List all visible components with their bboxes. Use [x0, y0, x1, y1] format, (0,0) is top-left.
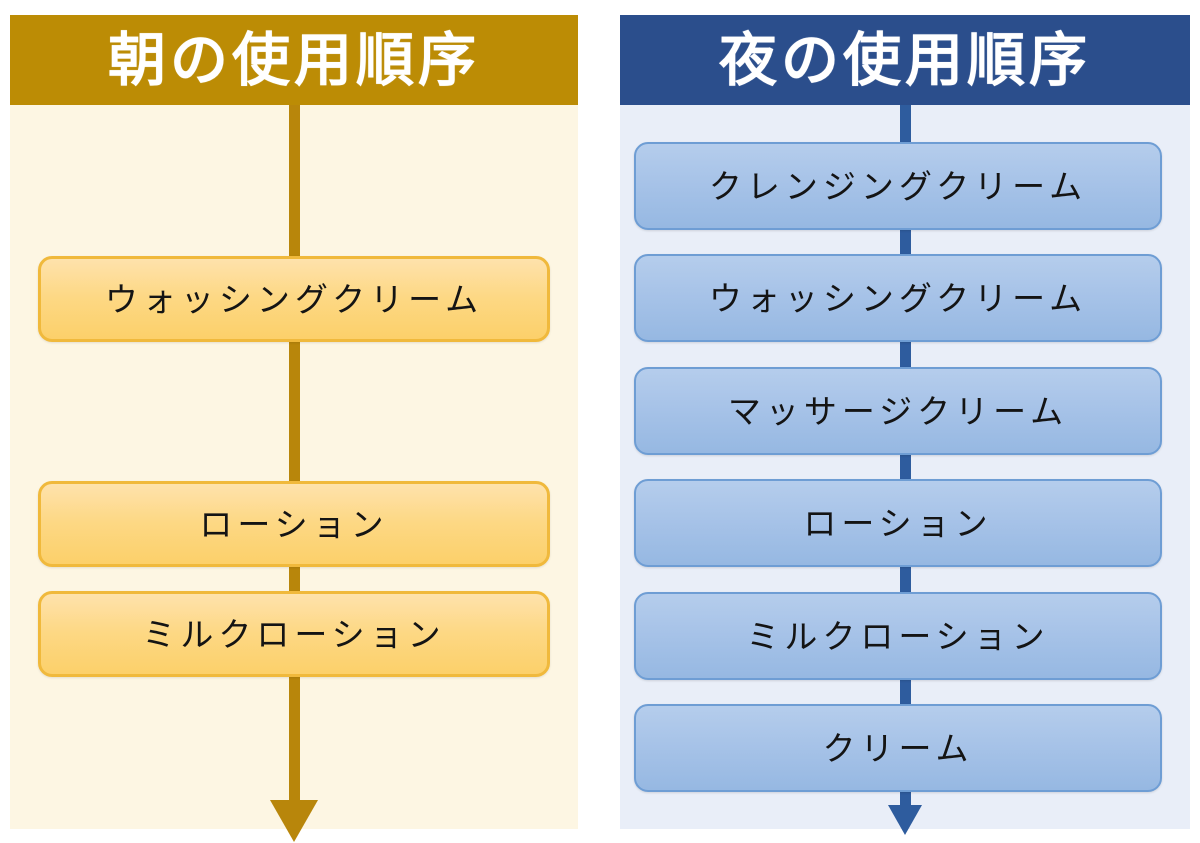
step-box-morning-2[interactable]: ローション: [38, 481, 550, 567]
panel-night-header: 夜の使用順序: [620, 15, 1190, 105]
step-box-night-4[interactable]: ローション: [634, 479, 1162, 567]
step-box-night-5[interactable]: ミルクローション: [634, 592, 1162, 680]
step-label: ローション: [803, 507, 992, 540]
step-label: ミルクローション: [142, 618, 445, 651]
step-label: ウォッシングクリーム: [709, 282, 1087, 315]
down-arrow-icon-night: [888, 805, 922, 835]
step-label: クレンジングクリーム: [709, 170, 1087, 203]
step-box-night-3[interactable]: マッサージクリーム: [634, 367, 1162, 455]
skincare-order-diagram: 朝の使用順序 ウォッシングクリーム ローション ミルクローション 夜の使用順序 …: [0, 0, 1200, 843]
step-label: クリーム: [822, 732, 973, 765]
step-box-night-2[interactable]: ウォッシングクリーム: [634, 254, 1162, 342]
panel-morning-header: 朝の使用順序: [10, 15, 578, 105]
panel-morning: 朝の使用順序 ウォッシングクリーム ローション ミルクローション: [10, 15, 578, 829]
step-box-morning-3[interactable]: ミルクローション: [38, 591, 550, 677]
step-label: マッサージクリーム: [728, 395, 1068, 428]
step-label: ウォッシングクリーム: [105, 283, 483, 316]
step-label: ミルクローション: [746, 620, 1049, 653]
step-box-night-1[interactable]: クレンジングクリーム: [634, 142, 1162, 230]
flow-connector-morning: [289, 103, 300, 803]
step-box-night-6[interactable]: クリーム: [634, 704, 1162, 792]
step-label: ローション: [199, 508, 388, 541]
step-box-morning-1[interactable]: ウォッシングクリーム: [38, 256, 550, 342]
down-arrow-icon-morning: [270, 800, 318, 842]
panel-night: 夜の使用順序 クレンジングクリーム ウォッシングクリーム マッサージクリーム ロ…: [620, 15, 1190, 829]
panel-morning-title: 朝の使用順序: [108, 31, 480, 89]
panel-night-title: 夜の使用順序: [719, 31, 1091, 89]
